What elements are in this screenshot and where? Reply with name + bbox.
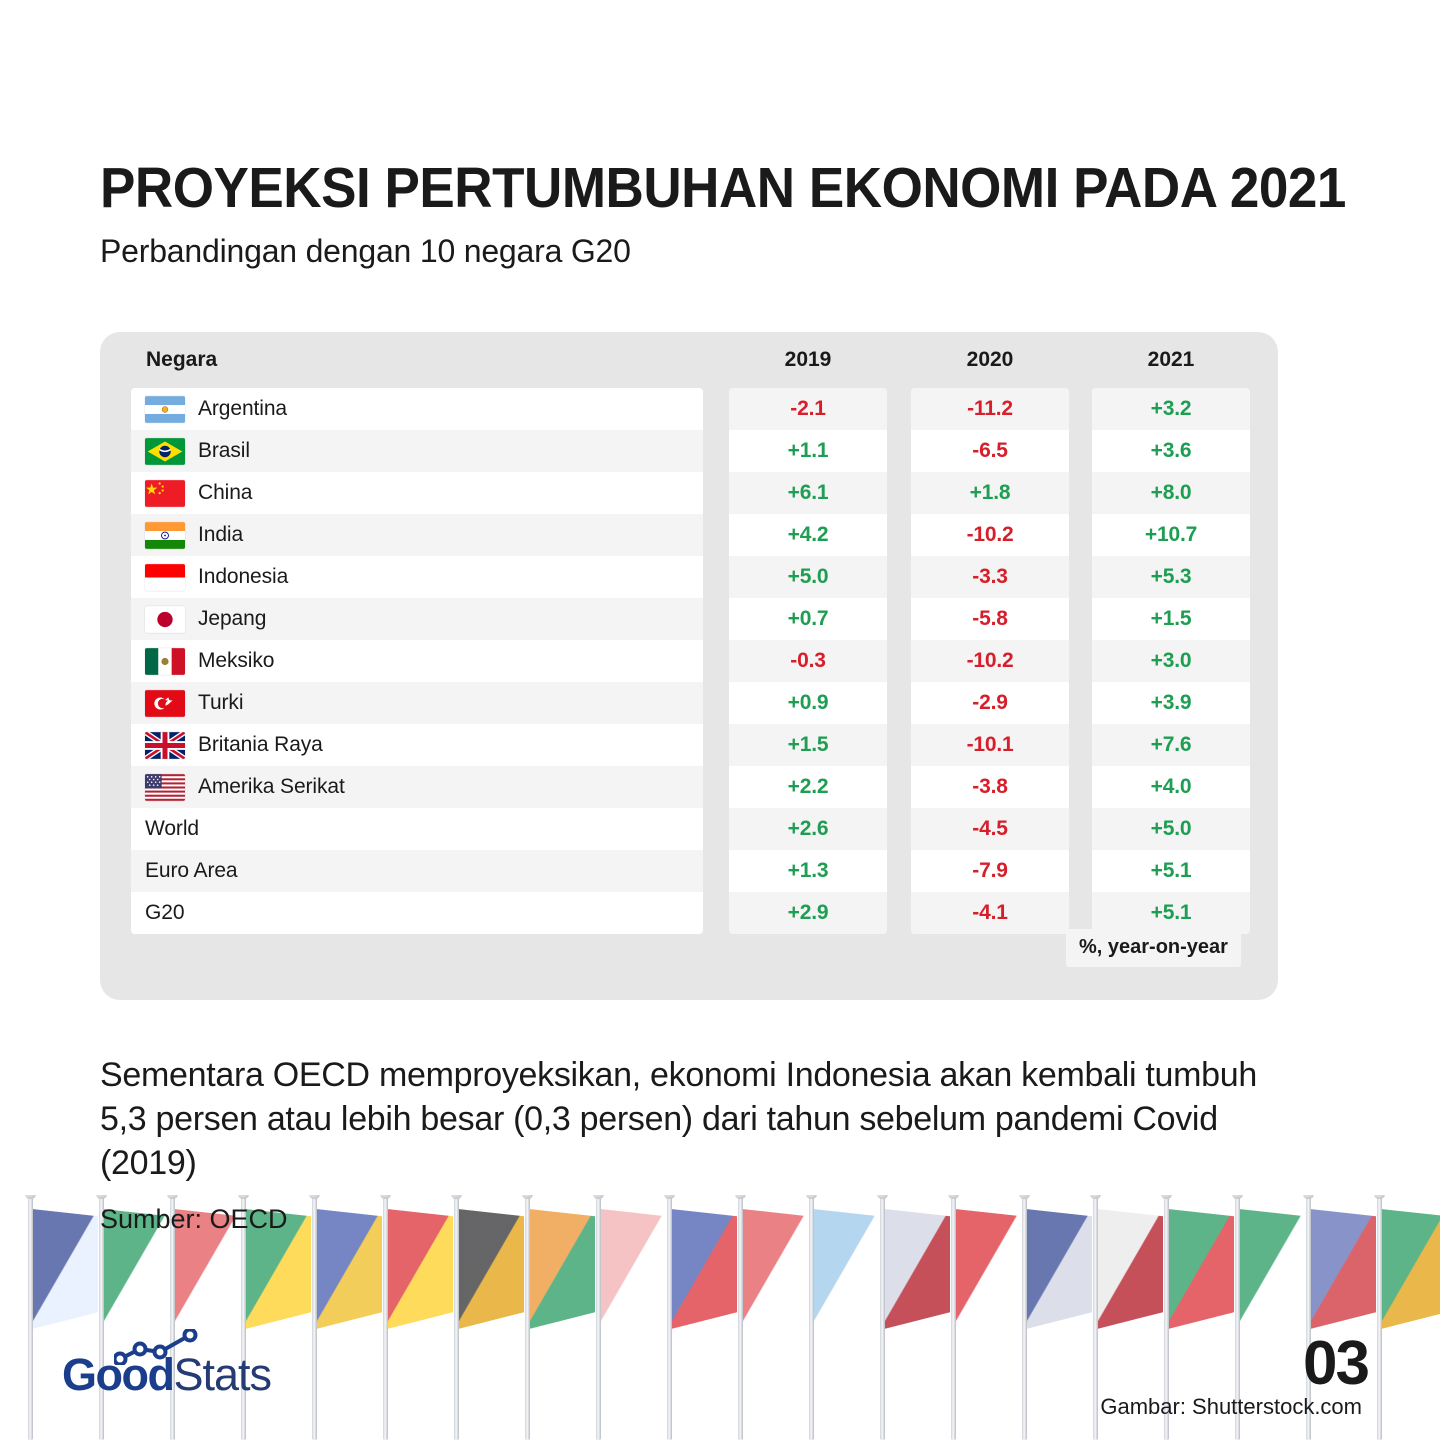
country-label: Brasil xyxy=(198,439,250,463)
growth-value: +4.2 xyxy=(729,523,887,547)
flag-mexico-icon xyxy=(145,648,185,675)
table-cell: -7.9 xyxy=(911,850,1069,892)
data-table-panel: Negara 2019 2020 2021 ArgentinaBrasilChi… xyxy=(100,332,1278,1000)
decorative-flag-banner xyxy=(316,1209,382,1329)
table-cell: +4.2 xyxy=(729,514,887,556)
decorative-flag-pole xyxy=(312,1195,317,1440)
decorative-flag-banner xyxy=(742,1209,808,1329)
growth-value: +2.9 xyxy=(729,901,887,925)
goodstats-logo[interactable]: Good Stats xyxy=(62,1349,271,1401)
decorative-flag-banner xyxy=(1026,1209,1092,1329)
table-cell: +5.1 xyxy=(1092,892,1250,934)
growth-value: -2.9 xyxy=(911,691,1069,715)
decorative-flag-banner xyxy=(1168,1209,1234,1329)
table-cell: +1.5 xyxy=(1092,598,1250,640)
table-row: G20 xyxy=(131,892,703,934)
country-label: Amerika Serikat xyxy=(198,775,345,799)
table-row: Brasil xyxy=(131,430,703,472)
table-cell: +2.9 xyxy=(729,892,887,934)
table-row: Amerika Serikat xyxy=(131,766,703,808)
page-subtitle: Perbandingan dengan 10 negara G20 xyxy=(100,232,1300,270)
table-row: Argentina xyxy=(131,388,703,430)
growth-value: +1.5 xyxy=(729,733,887,757)
decorative-flag-pole xyxy=(1022,1195,1027,1440)
growth-value: -0.3 xyxy=(729,649,887,673)
value-column-2019: -2.1+1.1+6.1+4.2+5.0+0.7-0.3+0.9+1.5+2.2… xyxy=(729,388,887,934)
growth-value: +3.9 xyxy=(1092,691,1250,715)
table-row: Turki xyxy=(131,682,703,724)
table-cell: -10.1 xyxy=(911,724,1069,766)
value-column-2020: -11.2-6.5+1.8-10.2-3.3-5.8-10.2-2.9-10.1… xyxy=(911,388,1069,934)
growth-value: -6.5 xyxy=(911,439,1069,463)
value-column-2021: +3.2+3.6+8.0+10.7+5.3+1.5+3.0+3.9+7.6+4.… xyxy=(1092,388,1250,934)
flag-turkey-icon xyxy=(145,690,185,717)
growth-value: -11.2 xyxy=(911,397,1069,421)
growth-value: -2.1 xyxy=(729,397,887,421)
growth-value: +3.0 xyxy=(1092,649,1250,673)
growth-value: -4.1 xyxy=(911,901,1069,925)
table-cell: +2.2 xyxy=(729,766,887,808)
table-cell: +0.7 xyxy=(729,598,887,640)
table-cell: +1.1 xyxy=(729,430,887,472)
decorative-flag-pole xyxy=(1093,1195,1098,1440)
country-label: Indonesia xyxy=(198,565,288,589)
country-label: China xyxy=(198,481,252,505)
source-label: Sumber: OECD xyxy=(100,1204,288,1235)
decorative-flag-pole xyxy=(383,1195,388,1440)
table-cell: -0.3 xyxy=(729,640,887,682)
flag-indonesia-icon xyxy=(145,564,185,591)
growth-value: +1.5 xyxy=(1092,607,1250,631)
table-cell: +3.9 xyxy=(1092,682,1250,724)
table-cell: -4.1 xyxy=(911,892,1069,934)
table-cell: +1.5 xyxy=(729,724,887,766)
table-cell: -10.2 xyxy=(911,514,1069,556)
growth-value: -4.5 xyxy=(911,817,1069,841)
table-cell: +5.0 xyxy=(729,556,887,598)
flag-brazil-icon xyxy=(145,438,185,465)
growth-value: +1.1 xyxy=(729,439,887,463)
decorative-flag-banner xyxy=(884,1209,950,1329)
growth-value: +10.7 xyxy=(1092,523,1250,547)
table-row: Indonesia xyxy=(131,556,703,598)
growth-value: +4.0 xyxy=(1092,775,1250,799)
decorative-flag-banner xyxy=(1310,1209,1376,1329)
table-row: China xyxy=(131,472,703,514)
growth-value: +5.1 xyxy=(1092,859,1250,883)
country-label: Argentina xyxy=(198,397,287,421)
growth-value: -5.8 xyxy=(911,607,1069,631)
growth-value: -10.1 xyxy=(911,733,1069,757)
growth-value: +0.7 xyxy=(729,607,887,631)
table-row: Euro Area xyxy=(131,850,703,892)
country-label: Turki xyxy=(198,691,243,715)
decorative-flag-pole xyxy=(951,1195,956,1440)
decorative-flag-banner xyxy=(813,1209,879,1329)
infographic-page: PROYEKSI PERTUMBUHAN EKONOMI PADA 2021 P… xyxy=(0,0,1440,1440)
decorative-flag-banner xyxy=(671,1209,737,1329)
growth-value: +8.0 xyxy=(1092,481,1250,505)
table-cell: +6.1 xyxy=(729,472,887,514)
page-number: 03 xyxy=(1303,1328,1368,1399)
growth-value: +0.9 xyxy=(729,691,887,715)
table-cell: +8.0 xyxy=(1092,472,1250,514)
table-cell: +1.3 xyxy=(729,850,887,892)
table-cell: +7.6 xyxy=(1092,724,1250,766)
unit-badge: %, year-on-year xyxy=(1066,929,1241,967)
country-label: Euro Area xyxy=(145,859,238,883)
decorative-flag-pole xyxy=(28,1195,33,1440)
table-cell: -2.9 xyxy=(911,682,1069,724)
table-row: World xyxy=(131,808,703,850)
table-cell: -3.3 xyxy=(911,556,1069,598)
decorative-flag-pole xyxy=(1377,1195,1382,1440)
column-header-2021: 2021 xyxy=(1092,348,1250,372)
country-label: Britania Raya xyxy=(198,733,323,757)
growth-value: +3.6 xyxy=(1092,439,1250,463)
country-label: World xyxy=(145,817,199,841)
growth-value: +5.3 xyxy=(1092,565,1250,589)
country-column: ArgentinaBrasilChinaIndiaIndonesiaJepang… xyxy=(131,388,703,934)
table-cell: -11.2 xyxy=(911,388,1069,430)
decorative-flag-banner xyxy=(1239,1209,1305,1329)
table-cell: -5.8 xyxy=(911,598,1069,640)
country-label: Meksiko xyxy=(198,649,274,673)
decorative-flag-banner xyxy=(1381,1209,1440,1329)
table-header-row: Negara 2019 2020 2021 xyxy=(100,332,1278,388)
page-title: PROYEKSI PERTUMBUHAN EKONOMI PADA 2021 xyxy=(100,158,1216,218)
flag-japan-icon xyxy=(145,606,185,633)
image-credit: Gambar: Shutterstock.com xyxy=(1100,1394,1362,1420)
table-cell: +4.0 xyxy=(1092,766,1250,808)
decorative-flag-pole xyxy=(596,1195,601,1440)
growth-value: -10.2 xyxy=(911,523,1069,547)
table-cell: -2.1 xyxy=(729,388,887,430)
growth-value: +7.6 xyxy=(1092,733,1250,757)
growth-value: -10.2 xyxy=(911,649,1069,673)
decorative-flag-banner xyxy=(955,1209,1021,1329)
table-cell: +5.3 xyxy=(1092,556,1250,598)
growth-value: +5.0 xyxy=(1092,817,1250,841)
country-label: Jepang xyxy=(198,607,266,631)
table-cell: -4.5 xyxy=(911,808,1069,850)
column-header-country: Negara xyxy=(146,348,217,372)
decorative-flag-pole xyxy=(454,1195,459,1440)
decorative-flag-pole xyxy=(667,1195,672,1440)
flag-argentina-icon xyxy=(145,396,185,423)
table-cell: +5.0 xyxy=(1092,808,1250,850)
growth-value: -7.9 xyxy=(911,859,1069,883)
growth-value: -3.8 xyxy=(911,775,1069,799)
table-cell: +3.2 xyxy=(1092,388,1250,430)
flag-india-icon xyxy=(145,522,185,549)
growth-value: -3.3 xyxy=(911,565,1069,589)
column-header-2019: 2019 xyxy=(729,348,887,372)
flag-china-icon xyxy=(145,480,185,507)
table-cell: +3.0 xyxy=(1092,640,1250,682)
table-row: Britania Raya xyxy=(131,724,703,766)
table-row: Meksiko xyxy=(131,640,703,682)
table-cell: +3.6 xyxy=(1092,430,1250,472)
flag-usa-icon xyxy=(145,774,185,801)
sparkline-icon xyxy=(114,1329,200,1365)
table-cell: +10.7 xyxy=(1092,514,1250,556)
column-header-2020: 2020 xyxy=(911,348,1069,372)
table-row: India xyxy=(131,514,703,556)
decorative-flag-banner xyxy=(1097,1209,1163,1329)
decorative-flag-banner xyxy=(387,1209,453,1329)
growth-value: +3.2 xyxy=(1092,397,1250,421)
growth-value: +2.2 xyxy=(729,775,887,799)
table-cell: +0.9 xyxy=(729,682,887,724)
description-paragraph: Sementara OECD memproyeksikan, ekonomi I… xyxy=(100,1053,1260,1185)
table-cell: +1.8 xyxy=(911,472,1069,514)
table-cell: +2.6 xyxy=(729,808,887,850)
decorative-flag-pole xyxy=(809,1195,814,1440)
growth-value: +1.3 xyxy=(729,859,887,883)
decorative-flag-banner xyxy=(32,1209,98,1329)
decorative-flag-pole xyxy=(738,1195,743,1440)
table-cell: -6.5 xyxy=(911,430,1069,472)
flag-uk-icon xyxy=(145,732,185,759)
country-label: G20 xyxy=(145,901,184,925)
table-row: Jepang xyxy=(131,598,703,640)
growth-value: +6.1 xyxy=(729,481,887,505)
growth-value: +5.1 xyxy=(1092,901,1250,925)
growth-value: +1.8 xyxy=(911,481,1069,505)
decorative-flag-pole xyxy=(880,1195,885,1440)
decorative-flag-banner xyxy=(458,1209,524,1329)
table-cell: -10.2 xyxy=(911,640,1069,682)
growth-value: +5.0 xyxy=(729,565,887,589)
growth-value: +2.6 xyxy=(729,817,887,841)
decorative-flag-banner xyxy=(529,1209,595,1329)
decorative-flag-pole xyxy=(525,1195,530,1440)
decorative-flag-banner xyxy=(600,1209,666,1329)
table-cell: -3.8 xyxy=(911,766,1069,808)
table-cell: +5.1 xyxy=(1092,850,1250,892)
header-block: PROYEKSI PERTUMBUHAN EKONOMI PADA 2021 P… xyxy=(100,158,1300,270)
country-label: India xyxy=(198,523,243,547)
